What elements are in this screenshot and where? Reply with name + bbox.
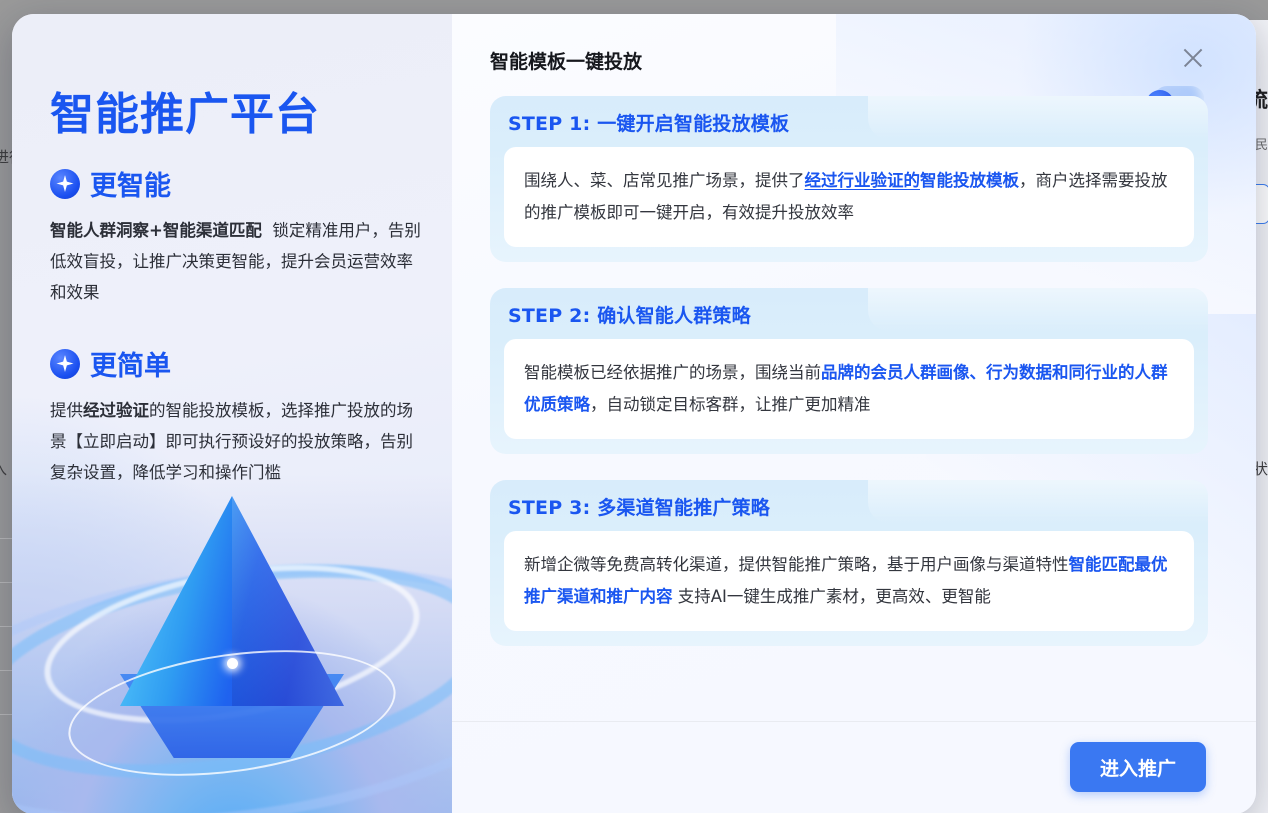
feature-header: 更简单 bbox=[50, 344, 428, 383]
step-card-2: STEP 2: 确认智能人群策略 智能模板已经依据推广的场景，围绕当前品牌的会员… bbox=[490, 288, 1208, 454]
step-body-2: 智能模板已经依据推广的场景，围绕当前品牌的会员人群画像、行为数据和同行业的人群优… bbox=[504, 339, 1194, 439]
steps-list: STEP 1: 一键开启智能投放模板 围绕人、菜、店常见推广场景，提供了经过行业… bbox=[452, 74, 1256, 672]
modal-pane: 智能模板一键投放 STEP 1: 一键开启智能投放模板 围绕人、菜、店常见推广场… bbox=[452, 14, 1256, 813]
sparkle-icon bbox=[50, 349, 80, 379]
step-body-1: 围绕人、菜、店常见推广场景，提供了经过行业验证的智能投放模板，商户选择需要投放的… bbox=[504, 147, 1194, 247]
promo-onboarding-dialog: 智能推广平台 更智能 智能人群洞察+智能渠道匹配 锁定精准用户，告别低效盲投，让… bbox=[12, 14, 1256, 813]
feature-title: 更简单 bbox=[90, 344, 171, 383]
feature-title: 更智能 bbox=[90, 164, 171, 203]
modal-header: 智能模板一键投放 bbox=[452, 14, 1256, 74]
step-card-1: STEP 1: 一键开启智能投放模板 围绕人、菜、店常见推广场景，提供了经过行业… bbox=[490, 96, 1208, 262]
step-body-segment: 围绕人、菜、店常见推广场景，提供了 bbox=[524, 171, 805, 190]
step-body-segment: ，自动锁定目标客群，让推广更加精准 bbox=[590, 395, 871, 414]
background-text-fragment-right-sub: 民 bbox=[1255, 134, 1268, 153]
hero-panel: 智能推广平台 更智能 智能人群洞察+智能渠道匹配 锁定精准用户，告别低效盲投，让… bbox=[12, 14, 452, 813]
orbit-dot bbox=[227, 658, 238, 669]
step-body-highlight: 智能投放模板 bbox=[920, 171, 1019, 190]
modal-footer: 进入推广 bbox=[452, 721, 1256, 813]
feature-block-simpler: 更简单 提供经过验证的智能投放模板，选择推广投放的场景【立即启动】即可执行预设好… bbox=[50, 344, 428, 488]
feature-block-smarter: 更智能 智能人群洞察+智能渠道匹配 锁定精准用户，告别低效盲投，让推广决策更智能… bbox=[50, 164, 428, 308]
background-text-fragment-left-2: 入 bbox=[0, 458, 7, 479]
step-body-highlight-underline: 经过行业验证的 bbox=[805, 171, 921, 190]
feature-description: 智能人群洞察+智能渠道匹配 锁定精准用户，告别低效盲投，让推广决策更智能，提升会… bbox=[50, 215, 428, 308]
step-card-3: STEP 3: 多渠道智能推广策略 新增企微等免费高转化渠道，提供智能推广策略，… bbox=[490, 480, 1208, 646]
feature-body-strong: 经过验证 bbox=[83, 401, 149, 420]
sparkle-icon bbox=[50, 169, 80, 199]
step-header-3: STEP 3: 多渠道智能推广策略 bbox=[490, 480, 1208, 531]
enter-promotion-button[interactable]: 进入推广 bbox=[1070, 742, 1206, 792]
pyramid-3d-illustration bbox=[12, 474, 452, 813]
feature-body-pre: 提供 bbox=[50, 401, 83, 420]
step-body-segment: 支持AI一键生成推广素材，更高效、更智能 bbox=[673, 587, 991, 606]
step-body-segment: 新增企微等免费高转化渠道，提供智能推广策略，基于用户画像与渠道特性 bbox=[524, 555, 1069, 574]
step-header-1: STEP 1: 一键开启智能投放模板 bbox=[490, 96, 1208, 147]
step-body-segment: 智能模板已经依据推广的场景，围绕当前 bbox=[524, 363, 821, 382]
feature-header: 更智能 bbox=[50, 164, 428, 203]
modal-title: 智能模板一键投放 bbox=[490, 47, 642, 74]
close-icon[interactable] bbox=[1178, 43, 1208, 73]
feature-lead-text: 智能人群洞察+智能渠道匹配 bbox=[50, 221, 262, 240]
page-title: 智能推广平台 bbox=[50, 78, 320, 142]
step-body-3: 新增企微等免费高转化渠道，提供智能推广策略，基于用户画像与渠道特性智能匹配最优推… bbox=[504, 531, 1194, 631]
step-header-2: STEP 2: 确认智能人群策略 bbox=[490, 288, 1208, 339]
